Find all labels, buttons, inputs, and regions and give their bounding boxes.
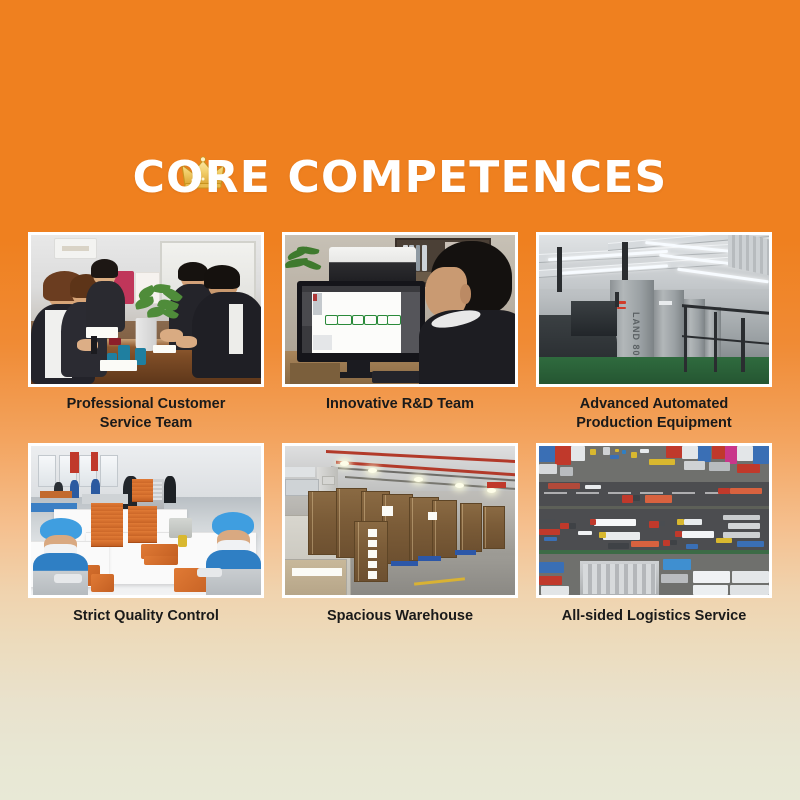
card-caption: Innovative R&D Team xyxy=(282,395,518,414)
machine-label: LAND 800 xyxy=(631,312,641,363)
card-advanced-automated-production-equipment[interactable]: LAND 800 Advanced Automated Production E… xyxy=(536,232,772,433)
card-spacious-warehouse[interactable]: Spacious Warehouse xyxy=(282,443,518,626)
card-innovative-rd-team[interactable]: Innovative R&D Team xyxy=(282,232,518,433)
card-strict-quality-control[interactable]: Strict Quality Control xyxy=(28,443,264,626)
page-title: CORE COMPETENCES xyxy=(133,150,668,206)
photo-frame-rd xyxy=(282,232,518,387)
photo-frame-logistics xyxy=(536,443,772,598)
core-competences-poster: CORE COMPETENCES xyxy=(0,0,800,800)
photo-meeting-room xyxy=(31,235,261,384)
photo-frame-meeting xyxy=(28,232,264,387)
photo-frame-qc xyxy=(28,443,264,598)
card-caption: Spacious Warehouse xyxy=(282,607,518,626)
competences-grid: Professional Customer Service Team xyxy=(28,232,772,626)
card-caption: Professional Customer Service Team xyxy=(28,395,264,433)
photo-frame-warehouse xyxy=(282,443,518,598)
card-professional-customer-service-team[interactable]: Professional Customer Service Team xyxy=(28,232,264,433)
card-caption: All-sided Logistics Service xyxy=(536,607,772,626)
photo-rd-designer xyxy=(285,235,515,384)
photo-warehouse xyxy=(285,446,515,595)
card-all-sided-logistics-service[interactable]: All-sided Logistics Service xyxy=(536,443,772,626)
photo-frame-press: LAND 800 xyxy=(536,232,772,387)
photo-logistics-aerial xyxy=(539,446,769,595)
card-caption: Strict Quality Control xyxy=(28,607,264,626)
photo-printing-press: LAND 800 xyxy=(539,235,769,384)
card-caption: Advanced Automated Production Equipment xyxy=(536,395,772,433)
heading-block: CORE COMPETENCES xyxy=(0,150,800,206)
photo-quality-control xyxy=(31,446,261,595)
